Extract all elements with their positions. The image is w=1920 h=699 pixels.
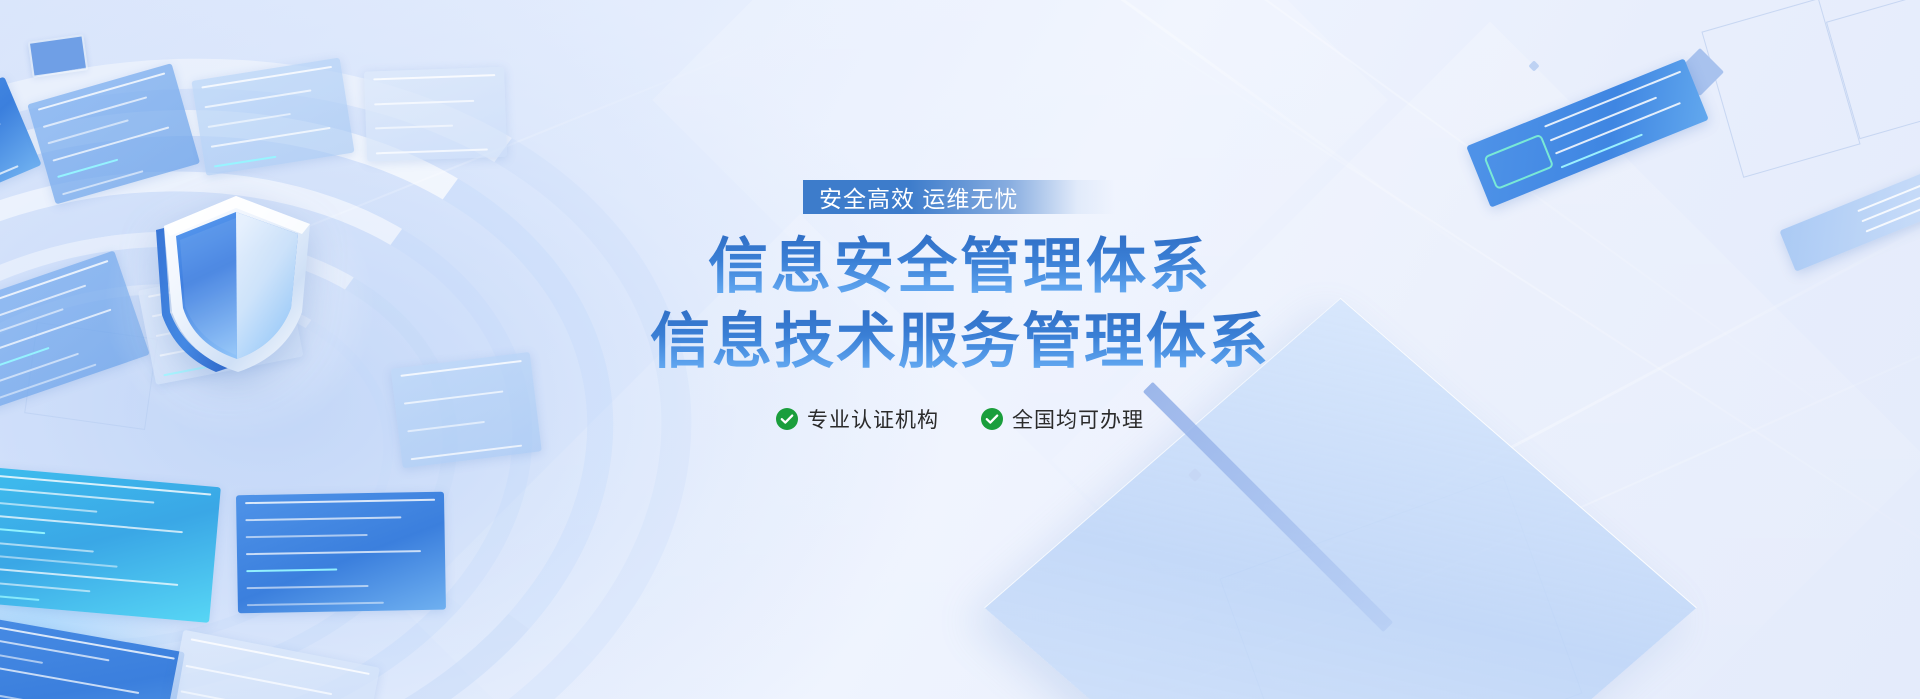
feature-label: 专业认证机构: [807, 404, 939, 434]
page-title-line2: 信息技术服务管理体系: [650, 305, 1270, 378]
check-circle-icon: [776, 408, 798, 430]
feature-item: 专业认证机构: [776, 404, 939, 434]
page-title-line1: 信息安全管理体系: [708, 230, 1212, 303]
hero-banner: 安全高效 运维无忧 信息安全管理体系 信息技术服务管理体系 专业认证机构 全国均…: [0, 0, 1920, 699]
tagline-text: 安全高效 运维无忧: [803, 180, 1018, 214]
tagline-badge: 安全高效 运维无忧: [803, 180, 1115, 214]
check-circle-icon: [981, 408, 1003, 430]
feature-item: 全国均可办理: [981, 404, 1144, 434]
banner-content: 安全高效 运维无忧 信息安全管理体系 信息技术服务管理体系 专业认证机构 全国均…: [0, 0, 1920, 699]
feature-label: 全国均可办理: [1012, 404, 1144, 434]
feature-list: 专业认证机构 全国均可办理: [776, 404, 1144, 434]
